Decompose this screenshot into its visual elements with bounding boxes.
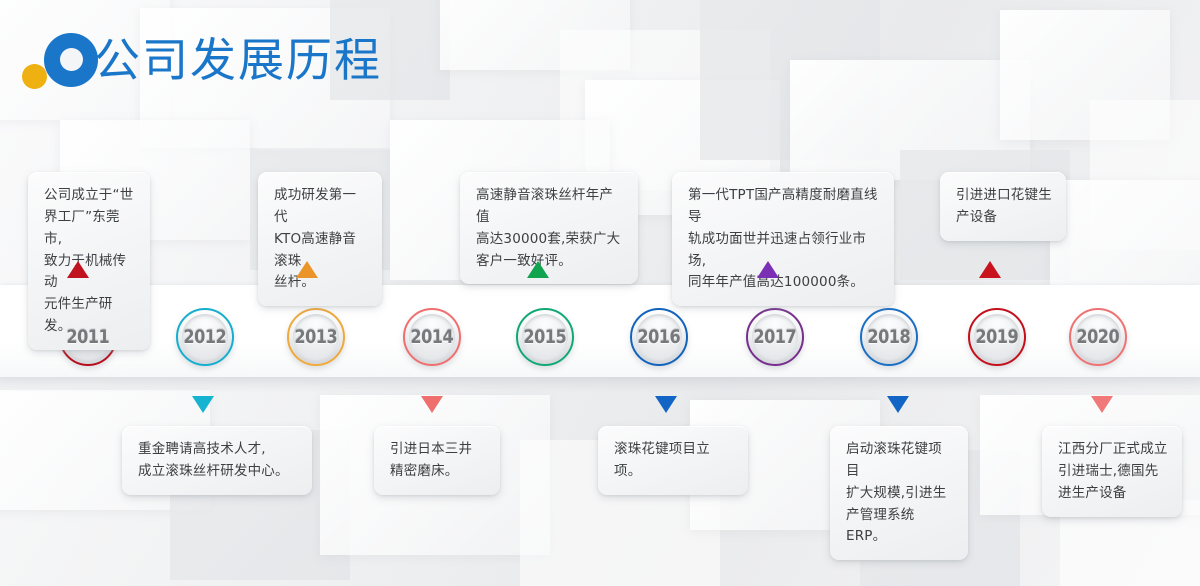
- page-header: 公司发展历程: [22, 26, 382, 94]
- pointer-triangle-up-icon: [757, 261, 779, 278]
- page-title: 公司发展历程: [94, 37, 382, 83]
- pointer-triangle-up-icon: [527, 261, 549, 278]
- pointer-triangle-up-icon: [67, 261, 89, 278]
- year-label: 2011: [67, 326, 110, 348]
- pointer-triangle-down-icon: [1091, 396, 1113, 413]
- milestone-card-text: 成功研发第一代 KTO高速静音滚珠 丝杆。: [274, 185, 368, 294]
- milestone-card-text: 江西分厂正式成立 引进瑞士,德国先 进生产设备: [1058, 439, 1168, 505]
- milestone-card-text: 高速静音滚珠丝杆年产值 高达30000套,荣获广大 客户一致好评。: [476, 185, 624, 272]
- infographic-canvas: 公司发展历程 201120122013201420152016201720182…: [0, 0, 1200, 586]
- pointer-triangle-down-icon: [192, 396, 214, 413]
- year-marker-2014[interactable]: 2014: [403, 308, 461, 366]
- year-label: 2012: [184, 326, 227, 348]
- logo-icon: [22, 27, 94, 93]
- milestone-card[interactable]: 引进日本三井 精密磨床。: [374, 426, 500, 495]
- year-marker-2017[interactable]: 2017: [746, 308, 804, 366]
- milestone-card[interactable]: 第一代TPT国产高精度耐磨直线导 轨成功面世并迅速占领行业市场, 同年年产值高达…: [672, 172, 894, 306]
- year-label: 2018: [868, 326, 911, 348]
- milestone-card-text: 启动滚珠花键项目 扩大规模,引进生 产管理系统ERP。: [846, 439, 954, 548]
- milestone-card-text: 滚珠花键项目立项。: [614, 439, 734, 483]
- milestone-card-text: 第一代TPT国产高精度耐磨直线导 轨成功面世并迅速占领行业市场, 同年年产值高达…: [688, 185, 880, 294]
- year-label: 2015: [524, 326, 567, 348]
- milestone-card[interactable]: 重金聘请高技术人才, 成立滚珠丝杆研发中心。: [122, 426, 312, 495]
- milestone-card[interactable]: 高速静音滚珠丝杆年产值 高达30000套,荣获广大 客户一致好评。: [460, 172, 638, 284]
- milestone-card-text: 重金聘请高技术人才, 成立滚珠丝杆研发中心。: [138, 439, 289, 483]
- year-marker-2020[interactable]: 2020: [1069, 308, 1127, 366]
- year-label: 2020: [1077, 326, 1120, 348]
- milestone-card-text: 引进日本三井 精密磨床。: [390, 439, 472, 483]
- milestone-card[interactable]: 滚珠花键项目立项。: [598, 426, 748, 495]
- pointer-triangle-down-icon: [655, 396, 677, 413]
- year-marker-2015[interactable]: 2015: [516, 308, 574, 366]
- milestone-card[interactable]: 江西分厂正式成立 引进瑞士,德国先 进生产设备: [1042, 426, 1182, 517]
- logo-dot-icon: [22, 64, 47, 89]
- year-marker-2012[interactable]: 2012: [176, 308, 234, 366]
- pointer-triangle-up-icon: [296, 261, 318, 278]
- year-marker-2018[interactable]: 2018: [860, 308, 918, 366]
- logo-ring-icon: [44, 33, 98, 87]
- year-label: 2013: [295, 326, 338, 348]
- pointer-triangle-down-icon: [421, 396, 443, 413]
- year-label: 2014: [411, 326, 454, 348]
- milestone-card-text: 引进进口花键生 产设备: [956, 185, 1052, 229]
- milestone-card[interactable]: 成功研发第一代 KTO高速静音滚珠 丝杆。: [258, 172, 382, 306]
- year-marker-2013[interactable]: 2013: [287, 308, 345, 366]
- milestone-card-text: 公司成立于“世 界工厂”东莞市, 致力于机械传动 元件生产研发。: [44, 185, 136, 338]
- year-label: 2017: [754, 326, 797, 348]
- year-marker-2019[interactable]: 2019: [968, 308, 1026, 366]
- pointer-triangle-up-icon: [979, 261, 1001, 278]
- pointer-triangle-down-icon: [887, 396, 909, 413]
- milestone-card[interactable]: 启动滚珠花键项目 扩大规模,引进生 产管理系统ERP。: [830, 426, 968, 560]
- milestone-card[interactable]: 引进进口花键生 产设备: [940, 172, 1066, 241]
- milestone-card[interactable]: 公司成立于“世 界工厂”东莞市, 致力于机械传动 元件生产研发。: [28, 172, 150, 350]
- year-label: 2016: [638, 326, 681, 348]
- bg-shape: [1050, 180, 1200, 290]
- timeline-band-shadow: [0, 377, 1200, 393]
- year-label: 2019: [976, 326, 1019, 348]
- year-marker-2016[interactable]: 2016: [630, 308, 688, 366]
